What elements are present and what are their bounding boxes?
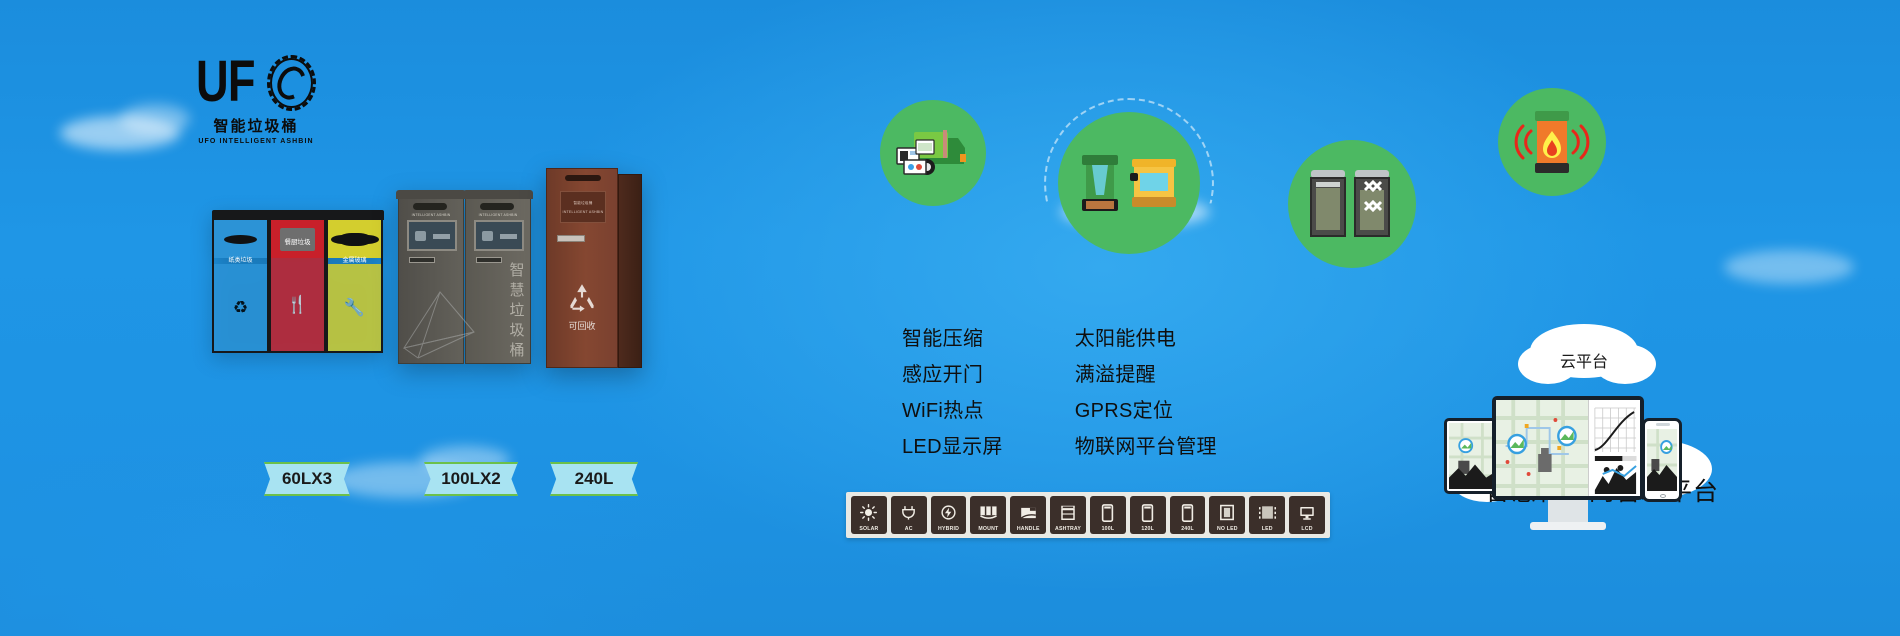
option-ashtray[interactable]: ASHTRAY	[1050, 496, 1086, 534]
feature-label: 物联网平台管理	[1075, 430, 1217, 459]
option-label: ASHTRAY	[1055, 526, 1081, 532]
bin-side-text: 智慧垃圾桶	[508, 261, 526, 361]
mount-icon	[972, 499, 1004, 526]
recycle-icon	[547, 281, 617, 320]
bin-display-panel: 智能垃圾桶 INTELLIGENT ASHBIN	[560, 191, 606, 223]
plug-icon	[893, 499, 925, 526]
option-label: 120L	[1141, 526, 1154, 532]
option-label: HANDLE	[1017, 526, 1040, 532]
option-handle[interactable]: HANDLE	[1010, 496, 1046, 534]
option-label: 240L	[1181, 526, 1194, 532]
option-label: SOLAR	[859, 526, 878, 532]
feature-label: 满溢提醒	[1075, 358, 1156, 387]
bin-display-screen	[407, 220, 457, 251]
blank-screen-icon	[1211, 499, 1243, 526]
option-led[interactable]: LED	[1249, 496, 1285, 534]
monitor-base	[1530, 522, 1606, 530]
compartment-graphic: 🍴	[271, 258, 324, 351]
bin-icon	[1132, 499, 1164, 526]
card-reader	[409, 257, 435, 263]
cloud-puff	[120, 104, 190, 134]
brand-logo: UF 智能垃圾桶 UFO INTELLIGENT ASHBIN	[196, 55, 316, 151]
compaction-badge	[1058, 112, 1200, 254]
option-icon-strip: SOLAR AC HYBRID MOUNT	[846, 492, 1330, 538]
option-no-led[interactable]: NO LED	[1209, 496, 1245, 534]
ufo-ring-icon	[267, 55, 316, 111]
option-100l[interactable]: 100L	[1090, 496, 1126, 534]
feature-item: 满溢提醒	[1045, 358, 1217, 387]
option-label: LCD	[1301, 526, 1312, 532]
option-mount[interactable]: MOUNT	[970, 496, 1006, 534]
bin-icon	[1172, 499, 1204, 526]
feature-column-left: 智能压缩 感应开门 WiFi热点 LED显示屏	[872, 322, 1003, 459]
chart-panel	[1588, 400, 1640, 496]
bin-display-screen	[474, 220, 524, 251]
compartment-graphic: ♻	[214, 264, 267, 351]
option-label: LED	[1262, 526, 1273, 532]
cloud-platform-label: 云平台	[1536, 348, 1632, 372]
logo-chinese-name: 智能垃圾桶	[196, 115, 316, 136]
monitor-icon	[1045, 437, 1064, 453]
capacity-label-240l: 240L	[550, 462, 638, 496]
fire-alarm-icon	[1511, 107, 1593, 177]
option-lcd[interactable]: LCD	[1289, 496, 1325, 534]
lcd-screen-icon	[1291, 499, 1323, 526]
hybrid-icon	[933, 499, 965, 526]
twin-bin-icon	[1303, 166, 1401, 242]
product-bin-100lx2: INTELLIGENT ASHBIN INTELLIGENT ASHBIN 智慧…	[398, 196, 533, 364]
card-reader	[476, 257, 502, 263]
monitor-icon	[872, 365, 891, 381]
handle-icon	[1012, 499, 1044, 526]
product-bin-60lx3: 纸类垃圾 ♻ 餐厨垃圾 🍴 金属玻璃 🔧	[212, 218, 384, 353]
option-label: 100L	[1102, 526, 1115, 532]
feature-item: 感应开门	[872, 358, 1003, 387]
monitor-icon	[1045, 365, 1064, 381]
feature-item: 智能压缩	[872, 322, 1003, 351]
monitor-icon	[872, 437, 891, 453]
option-240l[interactable]: 240L	[1170, 496, 1206, 534]
feature-label: 太阳能供电	[1075, 322, 1177, 351]
bin-compartment-metal-glass: 金属玻璃 🔧	[326, 218, 383, 353]
feature-item: WiFi热点	[872, 394, 1003, 423]
compartment-label: 纸类垃圾	[214, 255, 267, 264]
option-hybrid[interactable]: HYBRID	[931, 496, 967, 534]
feature-label: 智能压缩	[902, 322, 983, 351]
bin-lid-bar	[565, 175, 601, 181]
bin-compartment-paper: 纸类垃圾 ♻	[212, 218, 269, 353]
compartment-label: 金属玻璃	[328, 255, 381, 264]
monitor-icon	[1045, 401, 1064, 417]
logo-wordmark: UF	[196, 55, 255, 109]
feature-list: 智能压缩 感应开门 WiFi热点 LED显示屏 太阳能供电 满溢提醒	[872, 322, 1332, 459]
monitor-icon	[1045, 329, 1064, 345]
led-panel-icon	[1251, 499, 1283, 526]
collection-truck-badge	[880, 100, 986, 206]
option-label: NO LED	[1217, 526, 1238, 532]
feature-item: 太阳能供电	[1045, 322, 1217, 351]
product-bin-240l: 智能垃圾桶 INTELLIGENT ASHBIN 可回收	[546, 168, 642, 368]
sun-icon	[853, 499, 885, 526]
desktop-monitor	[1492, 396, 1644, 500]
option-label: HYBRID	[938, 526, 959, 532]
bin-front-panel: 智能垃圾桶 INTELLIGENT ASHBIN 可回收	[546, 168, 618, 368]
feature-column-right: 太阳能供电 满溢提醒 GPRS定位 物联网平台管理	[1045, 322, 1217, 459]
feature-item: 物联网平台管理	[1045, 430, 1217, 459]
compartment-label: 餐厨垃圾	[271, 236, 324, 246]
cloud-puff	[60, 116, 180, 150]
monitor-icon	[872, 329, 891, 345]
feature-item: LED显示屏	[872, 430, 1003, 459]
bin-compartment-kitchen: 餐厨垃圾 🍴	[269, 218, 326, 353]
map-view	[1496, 400, 1588, 496]
fire-alarm-badge	[1498, 88, 1606, 196]
bin-opening-icon	[224, 235, 257, 244]
phone-device	[1642, 418, 1682, 502]
bin-panel-text-en: INTELLIGENT ASHBIN	[561, 210, 605, 214]
feature-label: 感应开门	[902, 358, 983, 387]
feature-label: GPRS定位	[1075, 394, 1173, 423]
option-solar[interactable]: SOLAR	[851, 496, 887, 534]
feature-item: GPRS定位	[1045, 394, 1217, 423]
option-120l[interactable]: 120L	[1130, 496, 1166, 534]
cloud-puff	[1724, 250, 1854, 284]
polygon-decor	[400, 270, 480, 360]
bin-side-panel	[618, 174, 642, 368]
compartment-graphic: 🔧	[328, 264, 381, 351]
card-reader	[557, 235, 585, 242]
monitor-icon	[872, 401, 891, 417]
poster-canvas: UF 智能垃圾桶 UFO INTELLIGENT ASHBIN 纸类垃圾 ♻ 餐…	[0, 0, 1900, 636]
option-ac[interactable]: AC	[891, 496, 927, 534]
bin-panel-text-cn: 智能垃圾桶	[561, 201, 605, 206]
logo-english-name: UFO INTELLIGENT ASHBIN	[196, 138, 316, 145]
logo-wordmark-row: UF	[196, 55, 316, 117]
option-label: AC	[905, 526, 913, 532]
feature-label: LED显示屏	[902, 430, 1003, 459]
twin-bin-badge	[1288, 140, 1416, 268]
bin-panel-text: INTELLIGENT ASHBIN	[474, 213, 522, 218]
bin-icon	[1092, 499, 1124, 526]
ashtray-icon	[1052, 499, 1084, 526]
capacity-label-60lx3: 60LX3	[264, 462, 350, 496]
bin-opening-icon	[338, 233, 372, 246]
option-label: MOUNT	[978, 526, 998, 532]
capacity-label-100lx2: 100LX2	[424, 462, 518, 496]
feature-label: WiFi热点	[902, 394, 984, 423]
monitor-stand	[1548, 500, 1588, 524]
truck-icon	[894, 122, 972, 184]
compaction-icon	[1074, 143, 1184, 223]
bin-panel-text: INTELLIGENT ASHBIN	[407, 213, 455, 218]
recycle-label: 可回收	[547, 319, 617, 332]
